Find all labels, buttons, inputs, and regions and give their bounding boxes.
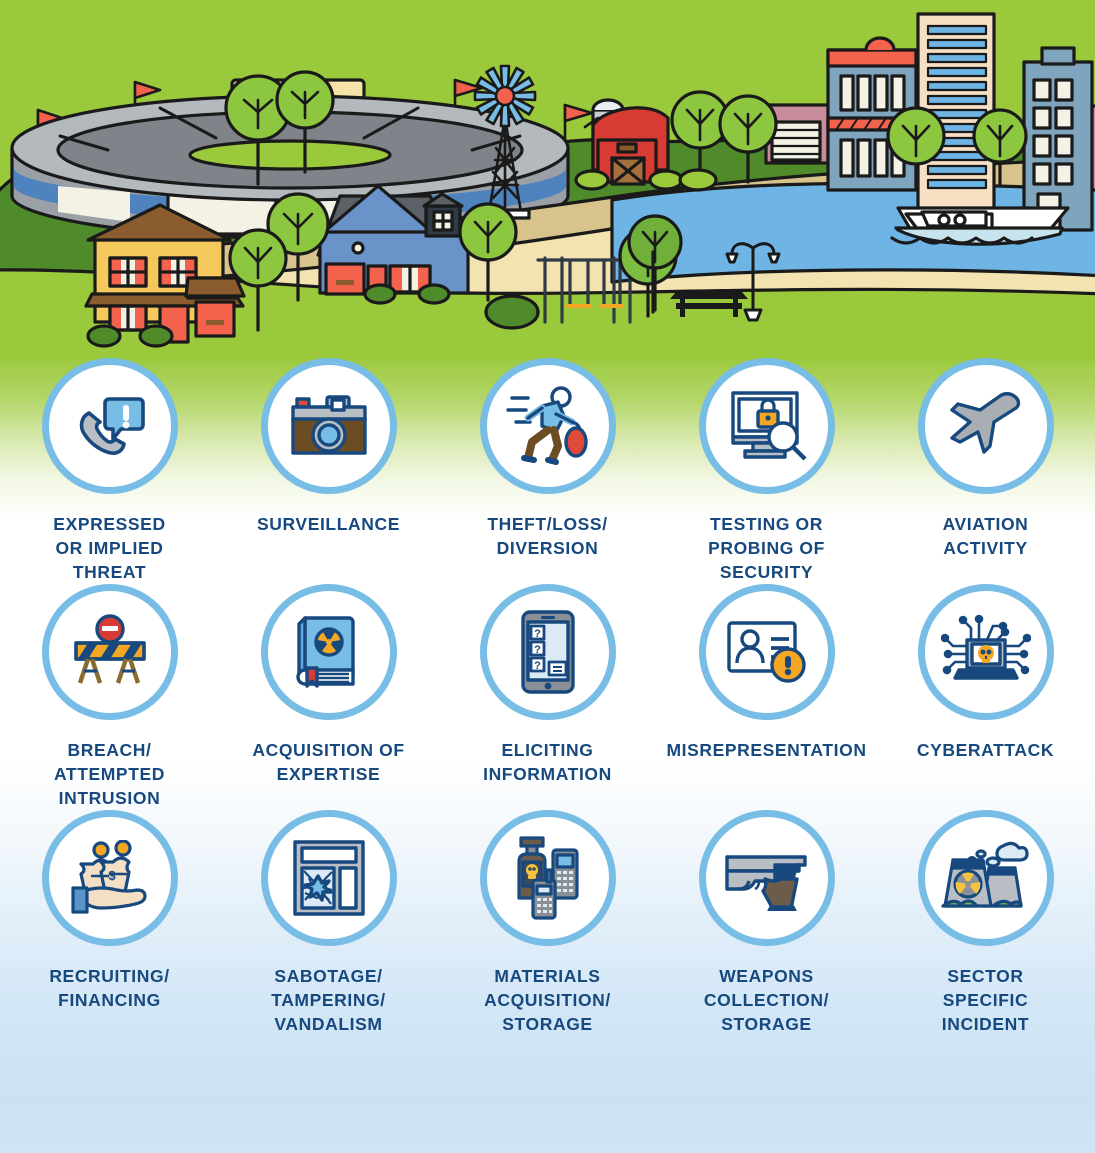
blue-house (318, 186, 468, 303)
grid-cell[interactable]: BREACH/ ATTEMPTED INTRUSION (0, 584, 219, 810)
hand-money-bags-icon: $ (67, 840, 153, 916)
svg-text:?: ? (534, 644, 541, 656)
handgun-icon (721, 845, 813, 911)
icon-circle-sector-specific-incident[interactable] (918, 810, 1054, 946)
grid-cell[interactable]: CYBERATTACK (876, 584, 1095, 810)
svg-text:?: ? (534, 628, 541, 640)
airplane-icon (944, 388, 1028, 464)
threat-indicator-grid: EXPRESSED OR IMPLIED THREAT SURVEILLAN (0, 358, 1095, 1036)
grid-cell[interactable]: SECTOR SPECIFIC INCIDENT (876, 810, 1095, 1036)
grid-cell[interactable]: MISREPRESENTATION (657, 584, 876, 810)
poison-bottle-radios-icon (505, 836, 591, 920)
icon-circle-expressed-or-implied-threat[interactable] (42, 358, 178, 494)
label-weapons-collection-storage: WEAPONS COLLECTION/ STORAGE (704, 964, 829, 1036)
infographic-page: EXPRESSED OR IMPLIED THREAT SURVEILLAN (0, 0, 1095, 1153)
barn-and-silo (576, 100, 682, 189)
label-expressed-or-implied-threat: EXPRESSED OR IMPLIED THREAT (53, 512, 165, 584)
icon-circle-weapons-collection-storage[interactable] (699, 810, 835, 946)
grid-cell[interactable]: THEFT/LOSS/ DIVERSION (438, 358, 657, 584)
svg-text:$: $ (108, 868, 116, 883)
icon-circle-breach-attempted-intrusion[interactable] (42, 584, 178, 720)
label-sabotage-tampering-vandalism: SABOTAGE/ TAMPERING/ VANDALISM (271, 964, 386, 1036)
grid-cell[interactable]: ACQUISITION OF EXPERTISE (219, 584, 438, 810)
grid-cell[interactable]: MATERIALS ACQUISITION/ STORAGE (438, 810, 657, 1036)
broken-window-icon (291, 838, 367, 918)
label-cyberattack: CYBERATTACK (917, 738, 1054, 762)
svg-text:?: ? (534, 660, 541, 672)
boat (892, 208, 1068, 244)
icon-circle-sabotage-tampering-vandalism[interactable] (261, 810, 397, 946)
label-materials-acquisition-storage: MATERIALS ACQUISITION/ STORAGE (484, 964, 611, 1036)
icon-circle-recruiting-financing[interactable]: $ (42, 810, 178, 946)
barrier-no-entry-icon (68, 613, 152, 691)
grid-cell[interactable]: ? ? ? ELICITING INFORMATION (438, 584, 657, 810)
label-sector-specific-incident: SECTOR SPECIFIC INCIDENT (942, 964, 1029, 1036)
smartphone-questions-icon: ? ? ? (519, 608, 577, 696)
nuclear-cooling-towers-icon (941, 838, 1031, 918)
icon-circle-aviation-activity[interactable] (918, 358, 1054, 494)
icon-circle-theft-loss-diversion[interactable] (480, 358, 616, 494)
grid-cell[interactable]: WEAPONS COLLECTION/ STORAGE (657, 810, 876, 1036)
icon-circle-materials-acquisition-storage[interactable] (480, 810, 616, 946)
label-surveillance: SURVEILLANCE (257, 512, 400, 536)
laptop-skull-circuit-icon (941, 612, 1031, 692)
camera-icon (287, 391, 371, 461)
grid-cell[interactable]: SURVEILLANCE (219, 358, 438, 584)
running-thief-with-bag-icon (506, 386, 590, 466)
label-misrepresentation: MISREPRESENTATION (666, 738, 866, 762)
monitor-lock-magnifier-icon (725, 387, 809, 465)
label-theft-loss-diversion: THEFT/LOSS/ DIVERSION (487, 512, 607, 560)
book-radiation-icon (291, 612, 367, 692)
label-eliciting-information: ELICITING INFORMATION (483, 738, 612, 786)
icon-circle-eliciting-information[interactable]: ? ? ? (480, 584, 616, 720)
label-testing-or-probing-of-security: TESTING OR PROBING OF SECURITY (708, 512, 825, 584)
label-breach-attempted-intrusion: BREACH/ ATTEMPTED INTRUSION (54, 738, 165, 810)
grid-cell[interactable]: TESTING OR PROBING OF SECURITY (657, 358, 876, 584)
icon-circle-surveillance[interactable] (261, 358, 397, 494)
icon-circle-misrepresentation[interactable] (699, 584, 835, 720)
id-card-alert-icon (723, 617, 811, 687)
label-acquisition-of-expertise: ACQUISITION OF EXPERTISE (252, 738, 404, 786)
icon-circle-acquisition-of-expertise[interactable] (261, 584, 397, 720)
phone-with-alert-bubble-icon (69, 385, 151, 467)
grid-cell[interactable]: EXPRESSED OR IMPLIED THREAT (0, 358, 219, 584)
label-aviation-activity: AVIATION ACTIVITY (943, 512, 1029, 560)
community-landscape-illustration (0, 0, 1095, 360)
grid-cell[interactable]: $ RECRUITING/ FINANCING (0, 810, 219, 1036)
grid-cell[interactable]: AVIATION ACTIVITY (876, 358, 1095, 584)
icon-circle-testing-or-probing-of-security[interactable] (699, 358, 835, 494)
icon-circle-cyberattack[interactable] (918, 584, 1054, 720)
label-recruiting-financing: RECRUITING/ FINANCING (49, 964, 169, 1012)
grid-cell[interactable]: SABOTAGE/ TAMPERING/ VANDALISM (219, 810, 438, 1036)
